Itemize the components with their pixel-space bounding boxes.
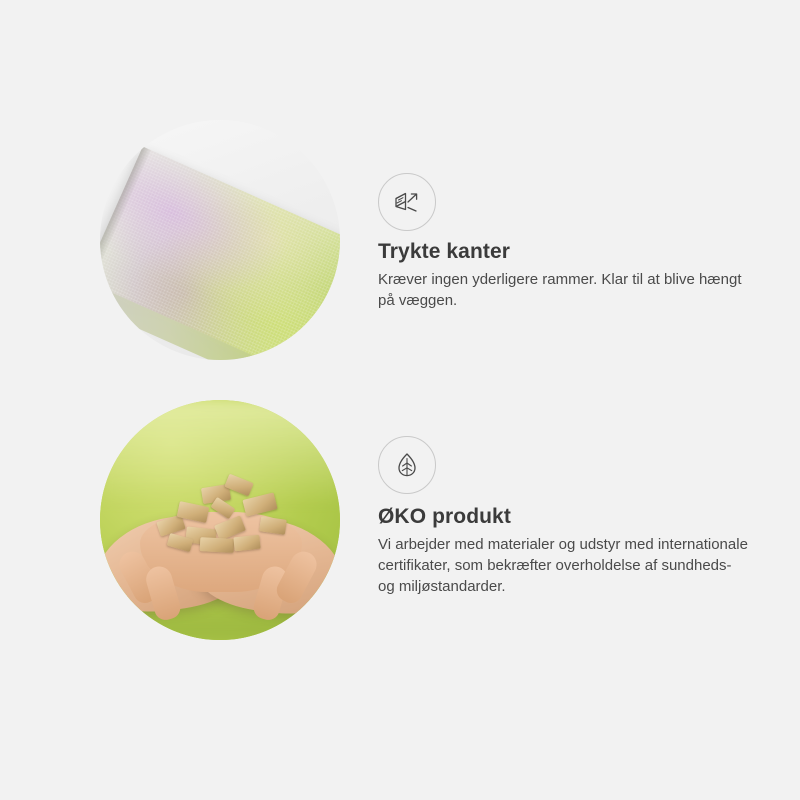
feature-2-title: ØKO produkt (378, 505, 511, 529)
feature-2-description: Vi arbejder med materialer og udstyr med… (378, 534, 750, 597)
feature-block-printed-edges: Trykte kanter Kræver ingen yderligere ra… (0, 120, 800, 390)
canvas-edge-photo-inner (100, 120, 340, 360)
feature-1-description: Kræver ingen yderligere rammer. Klar til… (378, 269, 750, 311)
wood-chip (200, 537, 235, 553)
printed-edges-icon (378, 173, 436, 231)
feature-block-eco-product: ØKO produkt Vi arbejder med materialer o… (0, 400, 800, 670)
printed-canvas-board (100, 147, 340, 360)
wood-chip (233, 535, 260, 552)
feature-1-title: Trykte kanter (378, 240, 510, 264)
wood-chips-hands-photo (100, 400, 340, 640)
wood-chips-pile (152, 474, 294, 552)
leaf-icon (378, 436, 436, 494)
printed-edges-icon-glyph (392, 187, 422, 217)
wood-chip (211, 497, 236, 519)
canvas-edge-photo (100, 120, 340, 360)
wood-chip (259, 516, 287, 534)
wood-chips-hands-photo-inner (100, 400, 340, 640)
product-features-page: Trykte kanter Kræver ingen yderligere ra… (0, 0, 800, 800)
leaf-icon-glyph (392, 450, 422, 480)
